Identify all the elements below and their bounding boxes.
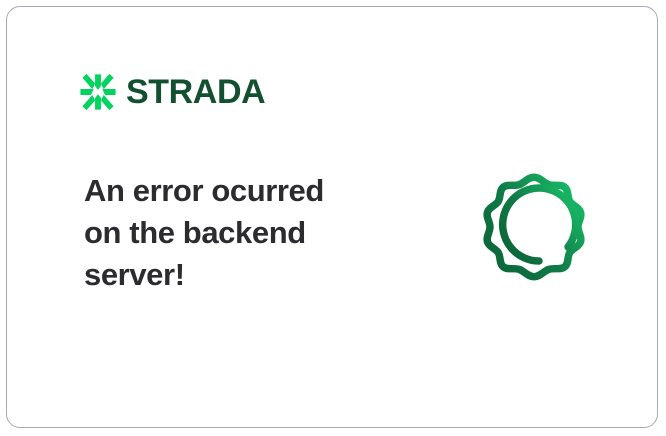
strada-asterisk-icon xyxy=(79,73,117,111)
error-card: STRADA An error ocurred on the backend s… xyxy=(6,6,658,428)
error-message-line-3: server! xyxy=(84,254,384,296)
error-message-line-1: An error ocurred xyxy=(84,170,384,212)
error-message: An error ocurred on the backend server! xyxy=(84,170,384,296)
gear-cog-icon xyxy=(451,143,617,311)
error-message-line-2: on the backend xyxy=(84,212,384,254)
strada-wordmark: STRADA xyxy=(126,75,265,109)
brand-lockup: STRADA xyxy=(79,73,265,111)
